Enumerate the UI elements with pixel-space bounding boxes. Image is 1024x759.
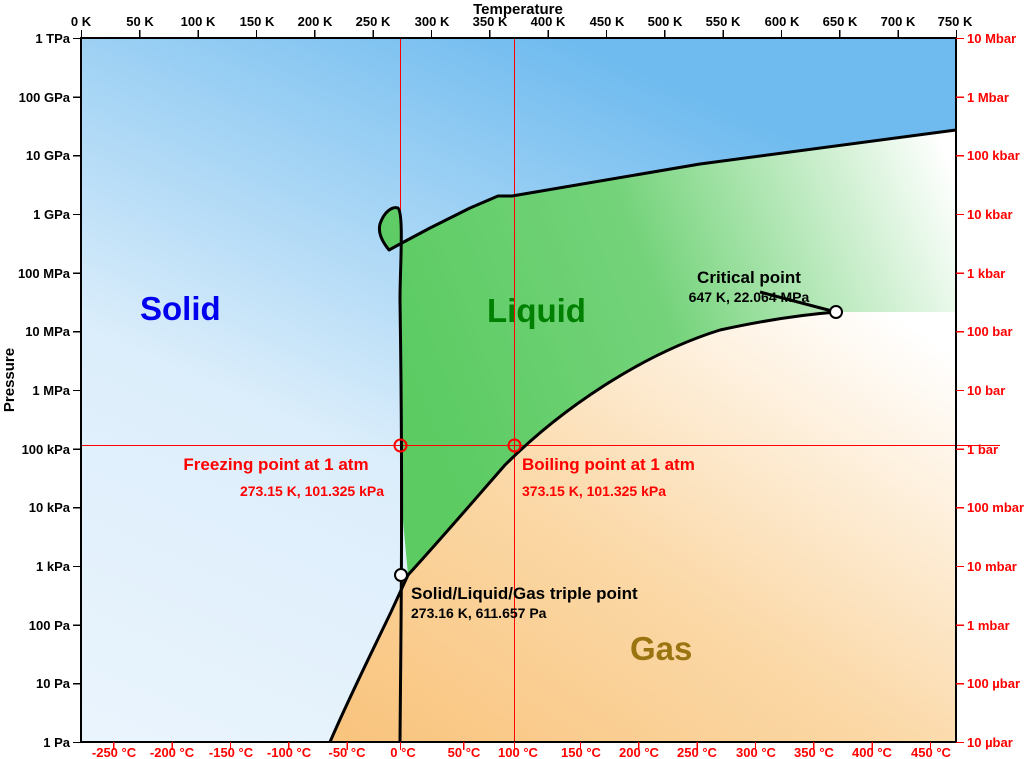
right-tick-label: 100 mbar (967, 500, 1024, 515)
top-tick-label: 450 K (590, 14, 625, 29)
left-tick-label: 1 TPa (35, 31, 70, 46)
bottom-tick-label: -50 °C (329, 745, 367, 759)
right-tick-label: 10 µbar (967, 735, 1013, 750)
critical-point-title: Critical point (697, 268, 801, 287)
top-tick-label: 250 K (356, 14, 391, 29)
right-tick-label: 10 mbar (967, 559, 1017, 574)
bottom-tick-label: 100 °C (498, 745, 539, 759)
top-tick-label: 300 K (415, 14, 450, 29)
bottom-axis: -250 °C -200 °C -150 °C -100 °C -50 °C 0… (92, 742, 952, 759)
left-axis-labels: 1 TPa 100 GPa 10 GPa 1 GPa 100 MPa 10 MP… (18, 31, 71, 750)
right-tick-label: 100 kbar (967, 148, 1020, 163)
right-tick-label: 10 bar (967, 383, 1005, 398)
left-tick-label: 10 MPa (25, 324, 71, 339)
left-tick-label: 1 GPa (33, 207, 71, 222)
right-axis-ticks (956, 39, 964, 743)
left-tick-label: 100 MPa (18, 266, 71, 281)
left-tick-label: 10 kPa (29, 500, 71, 515)
top-tick-label: 400 K (531, 14, 566, 29)
freezing-point-detail: 273.15 K, 101.325 kPa (240, 483, 384, 499)
region-label-liquid: Liquid (487, 292, 586, 329)
top-tick-label: 650 K (823, 14, 858, 29)
right-axis-labels: 10 Mbar 1 Mbar 100 kbar 10 kbar 1 kbar 1… (967, 31, 1024, 750)
triple-point-marker (395, 569, 407, 581)
right-tick-label: 100 µbar (967, 676, 1020, 691)
right-tick-label: 1 mbar (967, 618, 1010, 633)
top-tick-label: 750 K (938, 14, 973, 29)
bottom-tick-label: 450 °C (911, 745, 952, 759)
right-tick-label: 10 kbar (967, 207, 1013, 222)
bottom-tick-label: -200 °C (150, 745, 195, 759)
right-tick-label: 1 kbar (967, 266, 1005, 281)
region-label-solid: Solid (140, 290, 221, 327)
pressure-axis-title: Pressure (1, 348, 18, 412)
right-tick-label: 10 Mbar (967, 31, 1016, 46)
region-label-gas: Gas (630, 630, 692, 667)
left-tick-label: 1 kPa (36, 559, 71, 574)
top-tick-label: 100 K (181, 14, 216, 29)
bottom-tick-label: 250 °C (677, 745, 718, 759)
boiling-point-title: Boiling point at 1 atm (522, 455, 695, 474)
right-tick-label: 1 Mbar (967, 90, 1009, 105)
right-tick-label: 100 bar (967, 324, 1013, 339)
right-axis: 10 Mbar 1 Mbar 100 kbar 10 kbar 1 kbar 1… (956, 31, 1024, 750)
left-tick-label: 100 GPa (19, 90, 71, 105)
freezing-point-title: Freezing point at 1 atm (183, 455, 368, 474)
top-tick-label: 50 K (126, 14, 154, 29)
top-tick-label: 350 K (473, 14, 508, 29)
top-tick-label: 0 K (71, 14, 92, 29)
bottom-tick-label: 150 °C (561, 745, 602, 759)
bottom-tick-label: -100 °C (267, 745, 312, 759)
left-axis-ticks (73, 39, 81, 743)
top-tick-label: 200 K (298, 14, 333, 29)
bottom-tick-label: 0 °C (390, 745, 416, 759)
bottom-tick-label: 50 °C (448, 745, 481, 759)
top-tick-label: 700 K (881, 14, 916, 29)
phase-diagram-page: Temperature 0 K 50 K 100 K 150 K 200 K (0, 0, 1024, 759)
phase-diagram-svg: Temperature 0 K 50 K 100 K 150 K 200 K (0, 0, 1024, 759)
boiling-point-detail: 373.15 K, 101.325 kPa (522, 483, 666, 499)
left-tick-label: 1 Pa (43, 735, 71, 750)
left-tick-label: 100 kPa (22, 442, 71, 457)
top-tick-label: 150 K (240, 14, 275, 29)
phase-regions (81, 38, 956, 742)
bottom-tick-label: 400 °C (852, 745, 893, 759)
bottom-axis-labels: -250 °C -200 °C -150 °C -100 °C -50 °C 0… (92, 745, 952, 759)
top-tick-label: 600 K (765, 14, 800, 29)
critical-point-marker (830, 306, 842, 318)
triple-point-title: Solid/Liquid/Gas triple point (411, 584, 638, 603)
left-tick-label: 1 MPa (32, 383, 70, 398)
bottom-tick-label: -250 °C (92, 745, 137, 759)
left-tick-label: 100 Pa (29, 618, 71, 633)
left-axis: Pressure 1 TPa 100 GPa 10 GPa 1 GPa 100 … (1, 31, 81, 750)
left-tick-label: 10 GPa (26, 148, 71, 163)
bottom-tick-label: -150 °C (209, 745, 254, 759)
critical-point-detail: 647 K, 22.064 MPa (689, 289, 810, 305)
bottom-tick-label: 300 °C (736, 745, 777, 759)
left-tick-label: 10 Pa (36, 676, 71, 691)
top-tick-label: 500 K (648, 14, 683, 29)
top-tick-label: 550 K (706, 14, 741, 29)
right-tick-label: 1 bar (967, 442, 998, 457)
top-axis: Temperature 0 K 50 K 100 K 150 K 200 K (71, 1, 973, 38)
bottom-tick-label: 200 °C (619, 745, 660, 759)
top-axis-ticks (82, 30, 957, 38)
bottom-tick-label: 350 °C (794, 745, 835, 759)
triple-point-detail: 273.16 K, 611.657 Pa (411, 605, 547, 621)
